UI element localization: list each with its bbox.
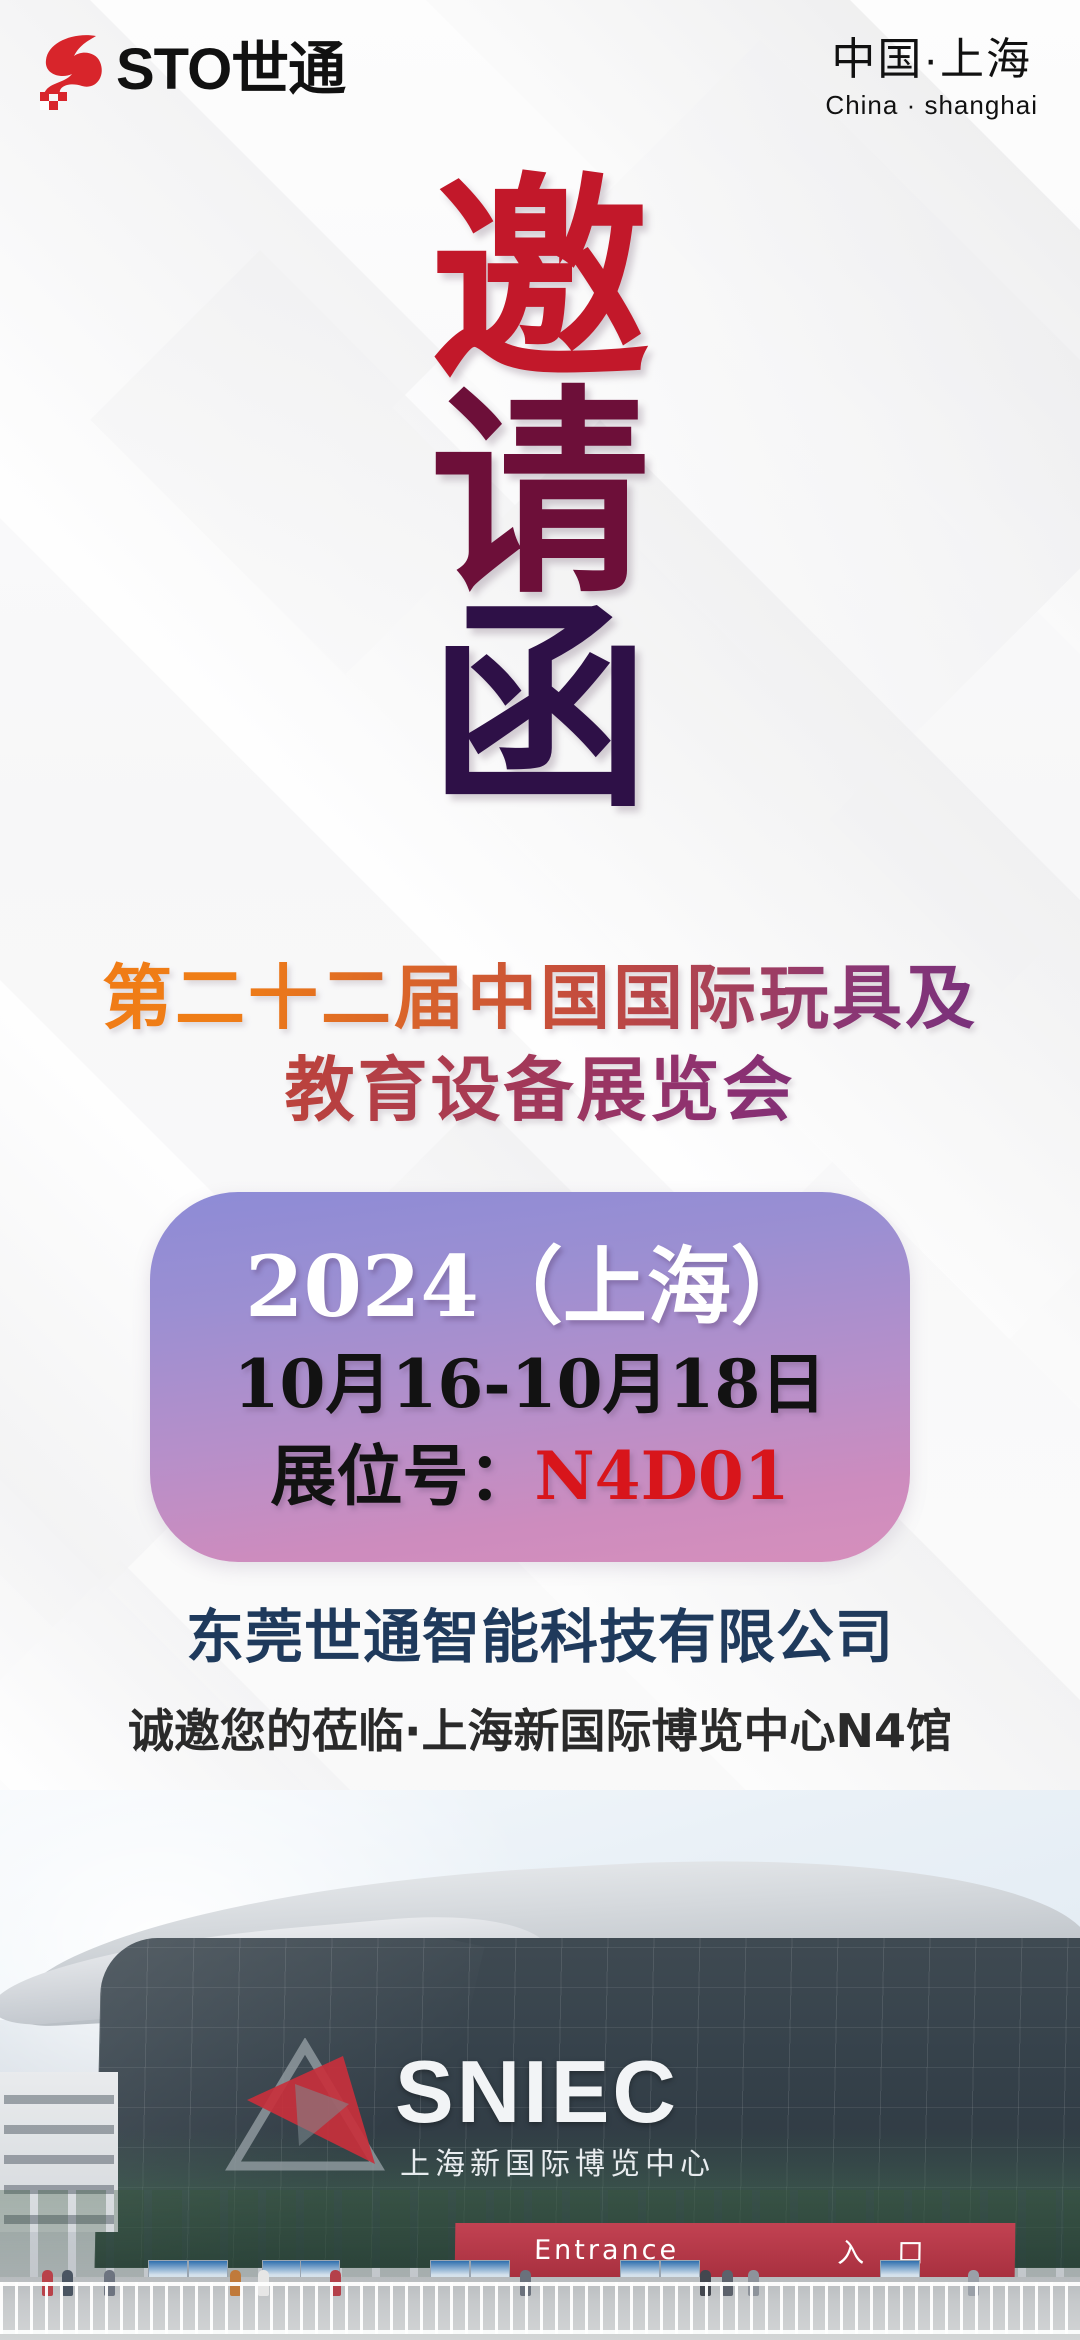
event-year-location: 2024（上海） (150, 1245, 910, 1329)
invitation-title: 邀 请 函 (0, 176, 1080, 816)
company-name: 东莞世通智能科技有限公司 (0, 1606, 1080, 1670)
sniec-wordmark: SNIEC (395, 2048, 679, 2136)
title-char-1: 邀 (0, 176, 1080, 389)
sto-flame-logo-icon (34, 30, 110, 110)
brand-logo: STO世通 (34, 30, 345, 110)
booth-label: 展位号： (270, 1437, 534, 1515)
booth-row: 展位号：N4D01 (150, 1443, 910, 1509)
title-char-3: 函 (0, 603, 1080, 816)
booth-number: N4D01 (534, 1437, 789, 1515)
subtitle-line-1: 第二十二届中国国际玩具及 (0, 952, 1080, 1044)
location-cn: 中国·上海 (825, 38, 1038, 82)
sniec-wordmark-cn: 上海新国际博览中心 (400, 2150, 715, 2180)
title-char-2: 请 (0, 389, 1080, 602)
location-en: China · shanghai (825, 92, 1038, 118)
location-block: 中国·上海 China · shanghai (825, 38, 1038, 118)
sniec-logo-icon (225, 2038, 385, 2188)
venue-photo: SNIEC 上海新国际博览中心 Entrance 入 口 (0, 1790, 1080, 2340)
subtitle-line-2: 教育设备展览会 (0, 1044, 1080, 1136)
venue-tagline: 诚邀您的莅临·上海新国际博览中心N4馆 (0, 1706, 1080, 1757)
event-date-range: 10月16-10月18日 (150, 1351, 910, 1417)
invitation-poster: STO世通 中国·上海 China · shanghai 邀 请 函 第二十二届… (0, 0, 1080, 2340)
event-info-card: 2024（上海） 10月16-10月18日 展位号：N4D01 (150, 1192, 910, 1562)
brand-name: STO世通 (116, 41, 345, 99)
poster-header: STO世通 中国·上海 China · shanghai (0, 0, 1080, 150)
event-subtitle: 第二十二届中国国际玩具及 教育设备展览会 (0, 952, 1080, 1137)
barrier-fence (0, 2282, 1080, 2334)
